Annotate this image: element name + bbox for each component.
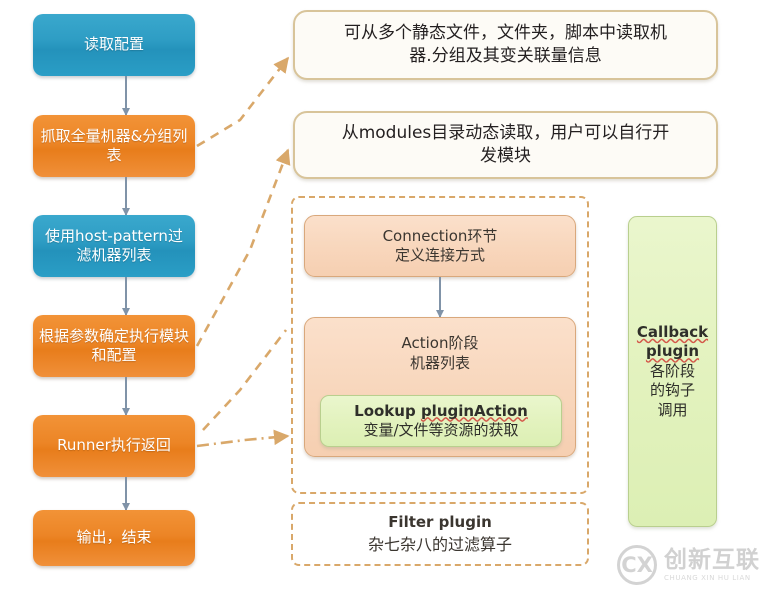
- lookup-line-1-plain: Lookup: [354, 402, 421, 420]
- flow-step-filter-hosts[interactable]: 使用host-pattern过滤机器列表: [33, 215, 195, 277]
- note-line-2: 发模块: [342, 145, 670, 168]
- callback-line-5: 调用: [657, 401, 687, 421]
- stage-action[interactable]: Action阶段 机器列表 Lookup pluginAction 变量/文件等…: [304, 317, 576, 457]
- filter-line-2: 杂七杂八的过滤算子: [368, 531, 512, 555]
- flow-step-label: 根据参数确定执行模块和配置: [33, 327, 195, 365]
- filter-plugin-group[interactable]: Filter plugin 杂七杂八的过滤算子: [291, 502, 589, 566]
- flow-arrow-2: [125, 177, 127, 215]
- stage-connection-line-2: 定义连接方式: [305, 246, 575, 266]
- flow-step-label: 抓取全量机器&分组列表: [33, 127, 195, 165]
- lookup-line-1-spell: pluginAction: [421, 402, 528, 420]
- watermark-logo-icon: CX: [617, 545, 657, 585]
- flow-step-output-end[interactable]: 输出，结束: [33, 510, 195, 566]
- callback-line-2: plugin: [646, 342, 699, 362]
- flow-arrow-1: [125, 76, 127, 115]
- filter-line-1: Filter plugin: [388, 513, 492, 531]
- stage-connection-line-1: Connection环节: [305, 227, 575, 247]
- callback-line-4: 的钩子: [650, 381, 695, 401]
- diagram-canvas: 读取配置 抓取全量机器&分组列表 使用host-pattern过滤机器列表 根据…: [0, 0, 761, 597]
- flow-arrow-5: [125, 477, 127, 510]
- note-modules[interactable]: 从modules目录动态读取，用户可以自行开 发模块: [293, 111, 718, 179]
- note-line-1: 从modules目录动态读取，用户可以自行开: [342, 122, 670, 145]
- flow-step-resolve-module[interactable]: 根据参数确定执行模块和配置: [33, 315, 195, 377]
- note-line-2: 器.分组及其变关联量信息: [344, 45, 667, 68]
- stage-arrow-connection-to-action: [439, 277, 441, 317]
- flow-step-runner-exec[interactable]: Runner执行返回: [33, 415, 195, 477]
- stage-action-line-1: Action阶段: [305, 334, 575, 354]
- stage-connection[interactable]: Connection环节 定义连接方式: [304, 215, 576, 277]
- flow-step-read-config[interactable]: 读取配置: [33, 14, 195, 76]
- flow-arrow-3: [125, 277, 127, 315]
- flow-step-label: 使用host-pattern过滤机器列表: [33, 227, 195, 265]
- flow-step-label: 读取配置: [33, 35, 195, 54]
- lookup-plugin-box[interactable]: Lookup pluginAction 变量/文件等资源的获取: [320, 395, 562, 447]
- watermark: CX 创新互联 CHUANG XIN HU LIAN: [617, 545, 760, 585]
- watermark-cn-text: 创新互联: [664, 549, 760, 572]
- note-line-1: 可从多个静态文件，文件夹，脚本中读取机: [344, 22, 667, 45]
- flow-step-fetch-hosts[interactable]: 抓取全量机器&分组列表: [33, 115, 195, 177]
- flow-step-label: 输出，结束: [33, 528, 195, 547]
- flow-arrow-4: [125, 377, 127, 415]
- lookup-line-2: 变量/文件等资源的获取: [363, 421, 518, 441]
- note-inventory[interactable]: 可从多个静态文件，文件夹，脚本中读取机 器.分组及其变关联量信息: [293, 10, 718, 80]
- flow-step-label: Runner执行返回: [33, 436, 195, 455]
- callback-plugin-panel[interactable]: Callback plugin 各阶段 的钩子 调用: [628, 216, 717, 527]
- stage-action-line-2: 机器列表: [305, 354, 575, 374]
- callback-line-1: Callback: [637, 323, 708, 343]
- callback-line-3: 各阶段: [650, 362, 695, 382]
- watermark-en-text: CHUANG XIN HU LIAN: [664, 575, 760, 582]
